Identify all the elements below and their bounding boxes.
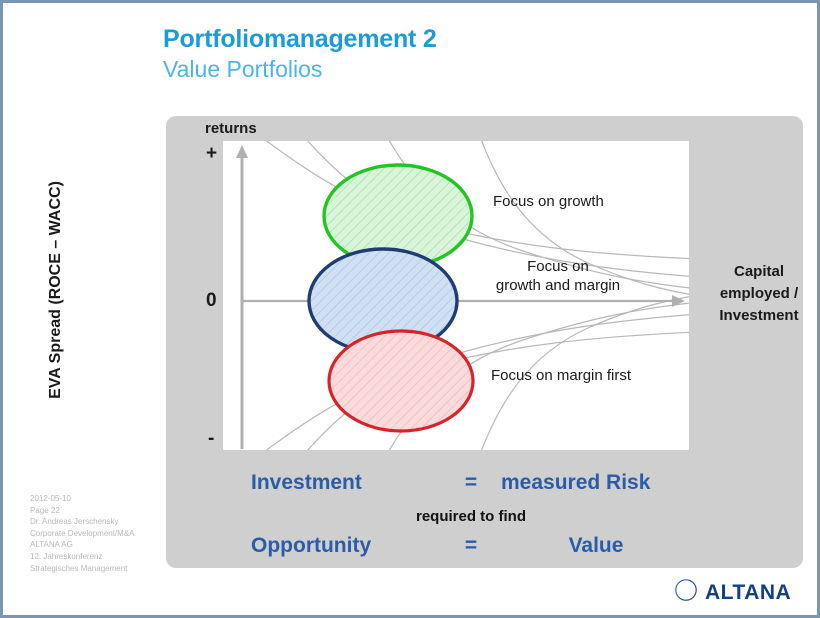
equation-sign-2: = <box>441 534 501 558</box>
bubble-label-growth-and-margin: Focus on growth and margin <box>465 258 651 296</box>
bubble-label-margin-first: Focus on margin first <box>491 367 631 386</box>
y-tick-plus: + <box>206 143 217 165</box>
bubble-label-growth: Focus on growth <box>493 193 604 212</box>
y-tick-minus: - <box>208 428 214 450</box>
y-axis-title: EVA Spread (ROCE – WACC) <box>47 170 65 410</box>
equation-row-opportunity: Opportunity = Value <box>251 534 691 558</box>
equation-opportunity-label: Opportunity <box>251 534 441 558</box>
footer-page: Page 22 <box>30 505 135 517</box>
footer-event-subtitle: Strategisches Management <box>30 563 135 575</box>
equation-connector-text: required to find <box>251 508 691 525</box>
chart-plot-area <box>223 141 689 450</box>
footer-author: Dr. Andreas Jerschensky <box>30 516 135 528</box>
footer-metadata: 2012-05-10 Page 22 Dr. Andreas Jerschens… <box>30 493 135 574</box>
altana-crescent-icon <box>675 579 697 606</box>
equation-measured-risk-label: measured Risk <box>501 471 691 495</box>
content-panel <box>166 116 803 568</box>
equation-investment-label: Investment <box>251 471 441 495</box>
y-tick-zero: 0 <box>206 290 217 312</box>
equation-row-investment: Investment = measured Risk <box>251 471 691 495</box>
bubble-margin-first[interactable] <box>329 331 473 431</box>
equation-sign-1: = <box>441 471 501 495</box>
altana-logo: ALTANA <box>675 579 791 606</box>
equation-value-label: Value <box>501 534 691 558</box>
chart-returns-label: returns <box>205 120 257 137</box>
chart-svg <box>223 141 689 450</box>
x-axis-title: Capital employed / Investment <box>703 261 815 326</box>
footer-company: ALTANA AG <box>30 539 135 551</box>
footer-department: Corporate Development/M&A <box>30 528 135 540</box>
page-title: Portfoliomanagement 2 <box>163 25 723 54</box>
page-subtitle: Value Portfolios <box>163 56 723 84</box>
slide-canvas: Portfoliomanagement 2 Value Portfolios <box>0 0 820 618</box>
footer-date: 2012-05-10 <box>30 493 135 505</box>
title-block: Portfoliomanagement 2 Value Portfolios <box>163 25 723 83</box>
footer-event: 12. Jahreskonferenz <box>30 551 135 563</box>
altana-logo-text: ALTANA <box>705 581 791 605</box>
